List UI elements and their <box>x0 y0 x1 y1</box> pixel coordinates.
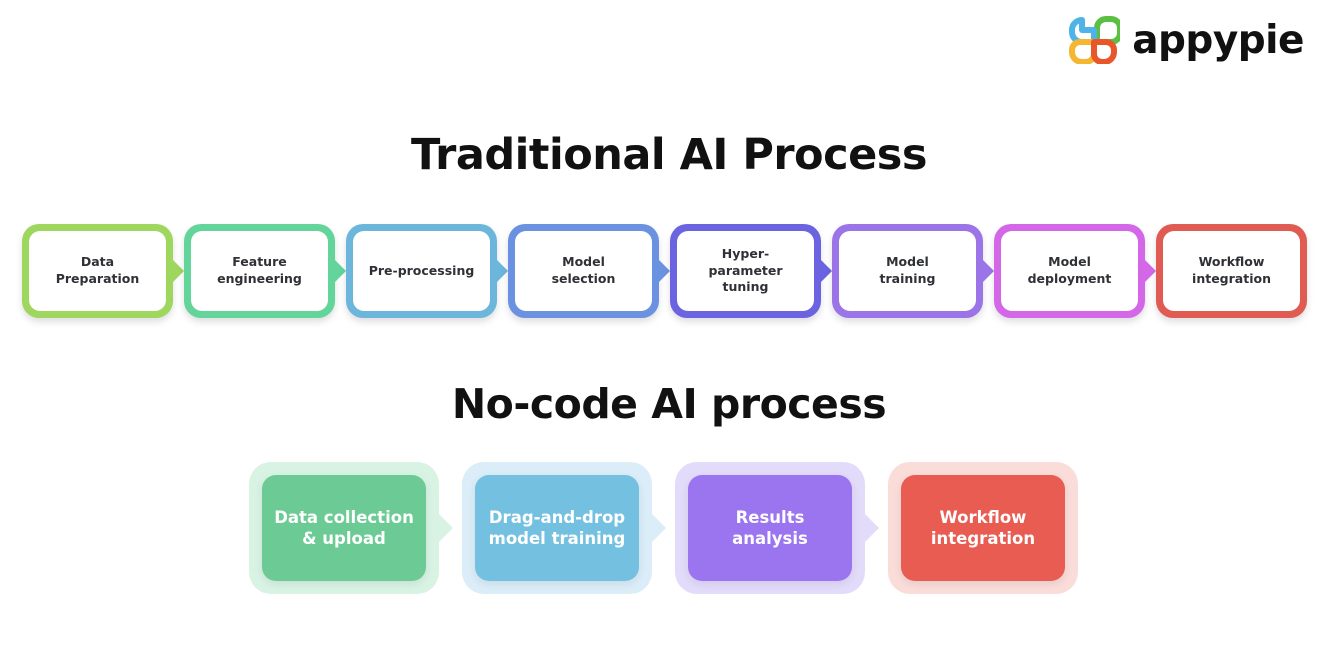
nocode-process-title: No-code AI process <box>0 380 1338 428</box>
arrow-right-icon <box>1144 259 1156 283</box>
step-body: Results analysis <box>688 475 852 581</box>
step-body: Feature engineering <box>191 231 328 311</box>
arrow-right-icon <box>172 259 184 283</box>
step-label: Model training <box>880 254 936 287</box>
step-body: Data collection & upload <box>262 475 426 581</box>
step-data-collection-upload[interactable]: Data collection & upload <box>249 462 439 594</box>
step-label: Model selection <box>552 254 616 287</box>
step-label: Hyper- parameter tuning <box>708 246 782 296</box>
step-model-training[interactable]: Model training <box>832 224 983 318</box>
step-workflow-integration[interactable]: Workflow integration <box>1156 224 1307 318</box>
arrow-right-icon <box>334 259 346 283</box>
step-body: Hyper- parameter tuning <box>677 231 814 311</box>
arrow-right-icon <box>438 513 453 543</box>
arrow-right-icon <box>820 259 832 283</box>
step-body: Workflow integration <box>901 475 1065 581</box>
arrow-right-icon <box>864 513 879 543</box>
arrow-right-icon <box>982 259 994 283</box>
infographic-page: appypie Traditional AI Process Data Prep… <box>0 0 1338 654</box>
step-label: Workflow integration <box>931 507 1035 550</box>
arrow-right-icon <box>496 259 508 283</box>
step-label: Results analysis <box>732 507 808 550</box>
step-body: Data Preparation <box>29 231 166 311</box>
step-body: Model training <box>839 231 976 311</box>
step-model-deployment[interactable]: Model deployment <box>994 224 1145 318</box>
arrow-right-icon <box>658 259 670 283</box>
traditional-process-steps: Data PreparationFeature engineeringPre-p… <box>22 224 1316 322</box>
traditional-process-title: Traditional AI Process <box>0 130 1338 180</box>
step-label: Feature engineering <box>217 254 302 287</box>
step-body: Drag-and-drop model training <box>475 475 639 581</box>
step-pre-processing[interactable]: Pre-processing <box>346 224 497 318</box>
step-label: Model deployment <box>1028 254 1112 287</box>
appypie-logo: appypie <box>1068 16 1304 64</box>
step-workflow-integration[interactable]: Workflow integration <box>888 462 1078 594</box>
step-label: Drag-and-drop model training <box>489 507 626 550</box>
step-label: Pre-processing <box>369 263 475 280</box>
step-body: Model deployment <box>1001 231 1138 311</box>
step-label: Workflow integration <box>1192 254 1271 287</box>
step-body: Pre-processing <box>353 231 490 311</box>
step-body: Workflow integration <box>1163 231 1300 311</box>
appypie-petal-logo-icon <box>1068 16 1120 64</box>
step-hyper-parameter-tuning[interactable]: Hyper- parameter tuning <box>670 224 821 318</box>
step-label: Data collection & upload <box>274 507 414 550</box>
brand-name: appypie <box>1132 21 1304 60</box>
step-feature-engineering[interactable]: Feature engineering <box>184 224 335 318</box>
nocode-process-steps: Data collection & uploadDrag-and-drop mo… <box>249 462 1089 597</box>
step-label: Data Preparation <box>56 254 140 287</box>
step-results-analysis[interactable]: Results analysis <box>675 462 865 594</box>
arrow-right-icon <box>651 513 666 543</box>
step-drag-and-drop-model-training[interactable]: Drag-and-drop model training <box>462 462 652 594</box>
step-data-preparation[interactable]: Data Preparation <box>22 224 173 318</box>
step-model-selection[interactable]: Model selection <box>508 224 659 318</box>
step-body: Model selection <box>515 231 652 311</box>
